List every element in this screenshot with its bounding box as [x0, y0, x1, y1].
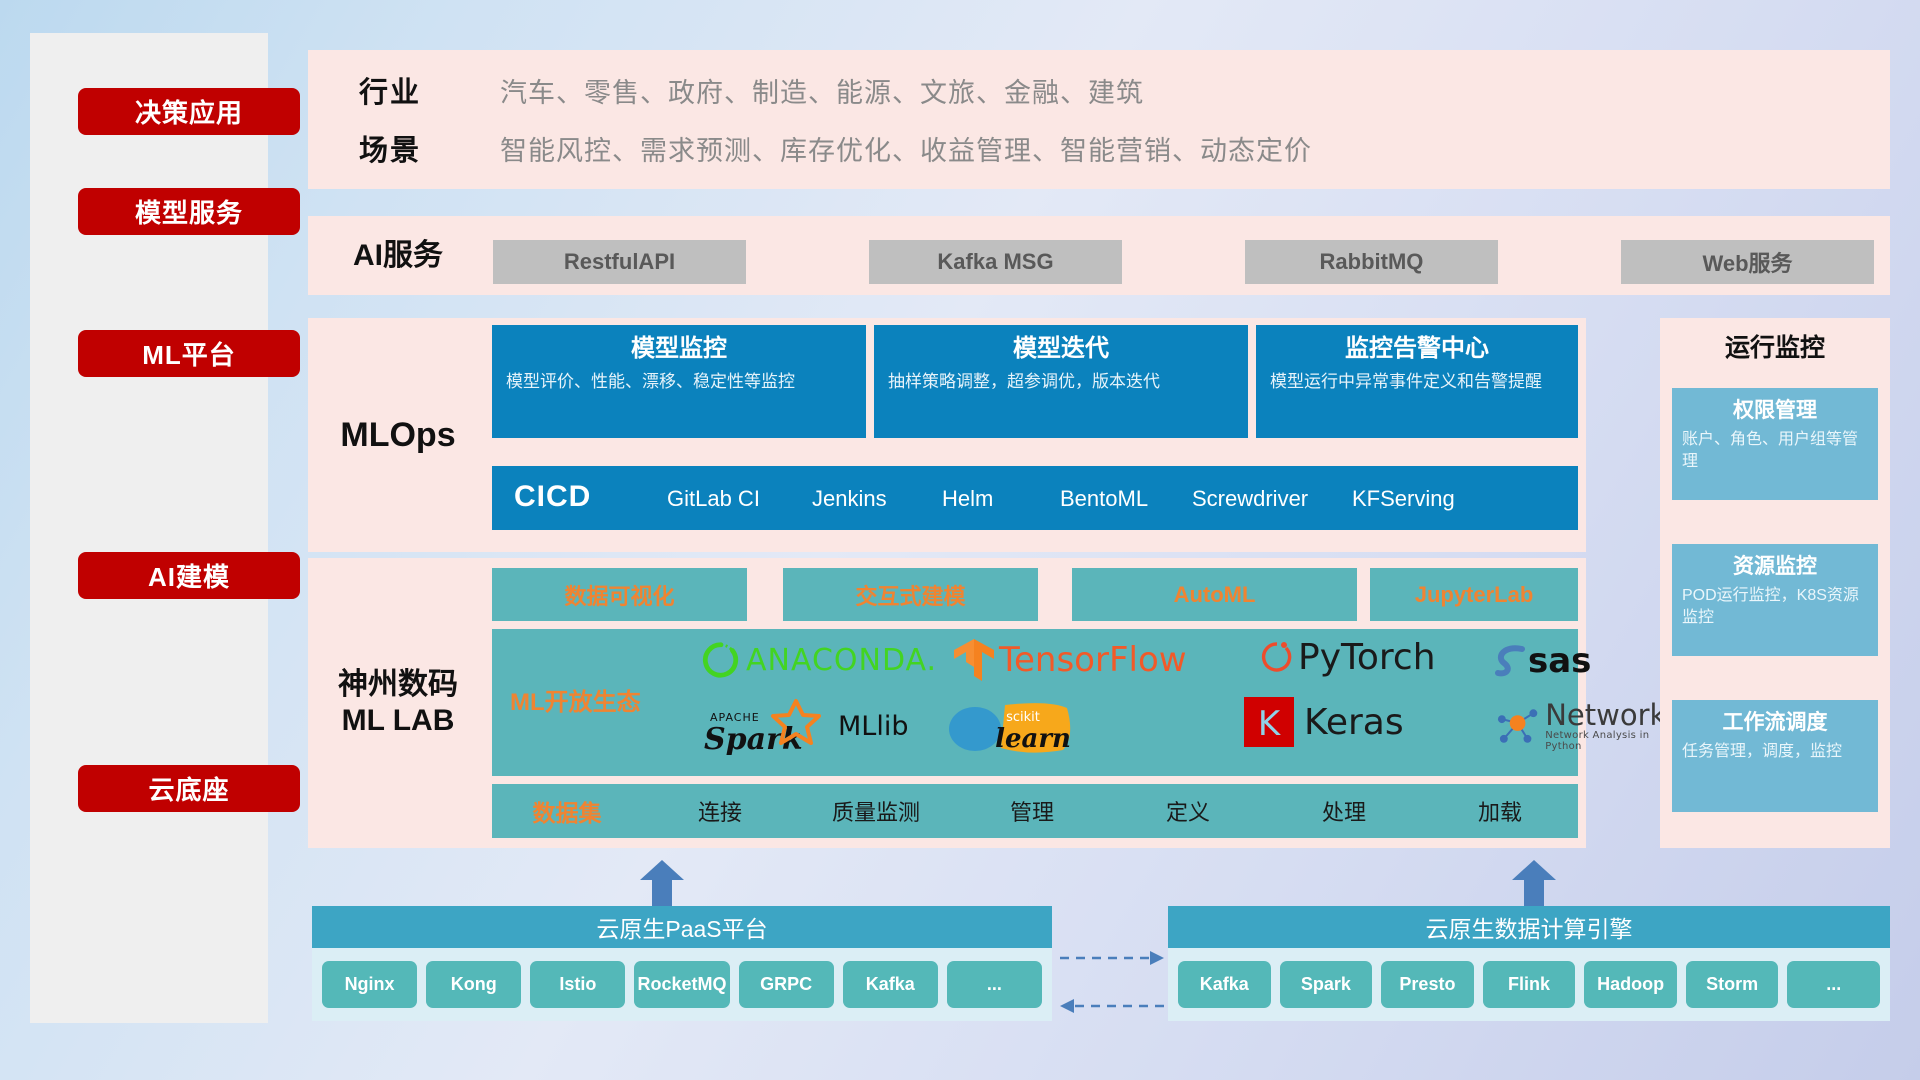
- ml-ecosystem-title: ML开放生态: [510, 682, 641, 717]
- monitoring-card-resource[interactable]: 资源监控 POD运行监控，K8S资源监控: [1672, 544, 1878, 656]
- monitoring-card-desc: POD运行监控，K8S资源监控: [1682, 585, 1868, 630]
- paas-header: 云原生PaaS平台: [312, 906, 1052, 948]
- engine-chip-flink[interactable]: Flink: [1483, 961, 1576, 1008]
- keras-logo: K Keras: [1244, 697, 1404, 747]
- rail-label: 云底座: [148, 770, 229, 807]
- mlops-card-desc: 抽样策略调整，超参调优，版本迭代: [888, 370, 1234, 395]
- service-chip-rabbitmq[interactable]: RabbitMQ: [1245, 240, 1498, 284]
- tool-chip-data-visualization[interactable]: 数据可视化: [492, 568, 747, 621]
- mlops-card-alert-center[interactable]: 监控告警中心 模型运行中异常事件定义和告警提醒: [1256, 325, 1578, 438]
- monitoring-card-title: 工作流调度: [1682, 706, 1868, 736]
- monitoring-title: 运行监控: [1660, 322, 1890, 370]
- engine-chip-kafka[interactable]: Kafka: [1178, 961, 1271, 1008]
- industry-key: 行业: [330, 69, 450, 111]
- tool-chip-interactive-modeling[interactable]: 交互式建模: [783, 568, 1038, 621]
- paas-chip-grpc[interactable]: GRPC: [739, 961, 834, 1008]
- service-chip-kafka-msg[interactable]: Kafka MSG: [869, 240, 1122, 284]
- data-engine-header: 云原生数据计算引擎: [1168, 906, 1890, 948]
- dataset-head: 数据集: [492, 794, 642, 828]
- dataset-item-define[interactable]: 定义: [1110, 795, 1266, 827]
- svg-text:scikit: scikit: [1006, 710, 1040, 725]
- engine-chip-presto[interactable]: Presto: [1381, 961, 1474, 1008]
- monitoring-card-desc: 任务管理，调度，监控: [1682, 741, 1868, 763]
- tensorflow-logo: TensorFlow: [952, 637, 1187, 683]
- sas-mark: [1492, 643, 1532, 679]
- cicd-item-kfserving[interactable]: KFServing: [1352, 485, 1462, 513]
- ml-lab-label-line2: ML LAB: [342, 703, 455, 739]
- networkx-logo: NetworkX Network Analysis in Python: [1494, 701, 1687, 752]
- mllib-wordmark: MLlib: [838, 711, 908, 742]
- data-engine-chip-row: Kafka Spark Presto Flink Hadoop Storm ..…: [1168, 948, 1890, 1021]
- cicd-item-jenkins[interactable]: Jenkins: [812, 485, 922, 513]
- paas-chip-kafka[interactable]: Kafka: [843, 961, 938, 1008]
- layer-rail: 决策应用 模型服务 ML平台 AI建模 云底座: [30, 33, 268, 1023]
- engine-chip-spark[interactable]: Spark: [1280, 961, 1373, 1008]
- cicd-item-gitlab-ci[interactable]: GitLab CI: [667, 485, 777, 513]
- rail-item-model-service[interactable]: 模型服务: [78, 188, 300, 235]
- paas-chip-more[interactable]: ...: [947, 961, 1042, 1008]
- scenario-row: 场景 智能风控、需求预测、库存优化、收益管理、智能营销、动态定价: [330, 120, 1870, 176]
- mlops-card-title: 监控告警中心: [1270, 333, 1564, 364]
- networkx-mark: [1494, 705, 1541, 749]
- tensorflow-wordmark: TensorFlow: [999, 640, 1187, 680]
- cicd-item-helm[interactable]: Helm: [942, 485, 1052, 513]
- mlops-card-title: 模型迭代: [888, 333, 1234, 364]
- monitoring-card-desc: 账户、角色、用户组等管理: [1682, 429, 1868, 474]
- mlops-label: MLOps: [308, 318, 488, 552]
- engine-chip-storm[interactable]: Storm: [1686, 961, 1779, 1008]
- ai-service-label: AI服务: [308, 216, 488, 295]
- svg-text:learn: learn: [995, 724, 1071, 754]
- industry-value: 汽车、零售、政府、制造、能源、文旅、金融、建筑: [500, 71, 1144, 110]
- pytorch-wordmark: PyTorch: [1298, 637, 1436, 678]
- spark-mllib-logo: APACHE Spark MLlib: [704, 697, 908, 755]
- mlops-card-model-iteration[interactable]: 模型迭代 抽样策略调整，超参调优，版本迭代: [874, 325, 1248, 438]
- svg-text:K: K: [1258, 704, 1282, 744]
- anaconda-wordmark: ANACONDA.: [746, 643, 937, 678]
- keras-wordmark: Keras: [1304, 702, 1404, 743]
- engine-chip-more[interactable]: ...: [1787, 961, 1880, 1008]
- monitoring-card-permission[interactable]: 权限管理 账户、角色、用户组等管理: [1672, 388, 1878, 500]
- rail-item-decision-apps[interactable]: 决策应用: [78, 88, 300, 135]
- architecture-diagram: 决策应用 模型服务 ML平台 AI建模 云底座 行业 汽车、零售、政府、制造、能…: [0, 0, 1920, 1080]
- sas-logo: sas: [1492, 641, 1591, 681]
- industry-row: 行业 汽车、零售、政府、制造、能源、文旅、金融、建筑: [330, 62, 1870, 118]
- up-arrow-icon-paas: [640, 860, 684, 906]
- paas-chip-row: Nginx Kong Istio RocketMQ GRPC Kafka ...: [312, 948, 1052, 1021]
- spark-mark: APACHE Spark: [704, 697, 832, 755]
- keras-mark: K: [1244, 697, 1294, 747]
- cicd-item-screwdriver[interactable]: Screwdriver: [1192, 485, 1302, 513]
- paas-chip-kong[interactable]: Kong: [426, 961, 521, 1008]
- mlops-card-title: 模型监控: [506, 333, 852, 364]
- paas-chip-rocketmq[interactable]: RocketMQ: [634, 961, 729, 1008]
- dataset-item-quality[interactable]: 质量监测: [798, 795, 954, 827]
- bidirectional-link-icon: [1058, 940, 1168, 1030]
- dataset-item-manage[interactable]: 管理: [954, 795, 1110, 827]
- service-chip-restfulapi[interactable]: RestfulAPI: [493, 240, 746, 284]
- pytorch-mark: [1260, 638, 1294, 678]
- scikit-mark: scikit learn: [947, 699, 1097, 755]
- rail-label: 决策应用: [135, 93, 243, 130]
- mlops-card-desc: 模型运行中异常事件定义和告警提醒: [1270, 370, 1564, 395]
- rail-item-cloud-base[interactable]: 云底座: [78, 765, 300, 812]
- tensorflow-mark: [952, 637, 996, 683]
- anaconda-logo: ANACONDA.: [702, 641, 937, 679]
- rail-label: ML平台: [142, 335, 236, 372]
- dataset-item-process[interactable]: 处理: [1266, 795, 1422, 827]
- up-arrow-icon-data-engine: [1512, 860, 1556, 906]
- cicd-title: CICD: [514, 480, 591, 514]
- ml-lab-label-line1: 神州数码: [338, 667, 458, 703]
- tool-chip-jupyterlab[interactable]: JupyterLab: [1370, 568, 1578, 621]
- rail-item-ml-platform[interactable]: ML平台: [78, 330, 300, 377]
- rail-label: 模型服务: [135, 193, 243, 230]
- sas-wordmark: sas: [1528, 641, 1591, 681]
- cicd-bar: CICD GitLab CI Jenkins Helm BentoML Scre…: [492, 466, 1578, 530]
- mlops-card-model-monitoring[interactable]: 模型监控 模型评价、性能、漂移、稳定性等监控: [492, 325, 866, 438]
- service-chip-web-service[interactable]: Web服务: [1621, 240, 1874, 284]
- paas-chip-nginx[interactable]: Nginx: [322, 961, 417, 1008]
- ml-lab-label: 神州数码 ML LAB: [308, 558, 488, 848]
- dataset-item-load[interactable]: 加载: [1422, 795, 1578, 827]
- monitoring-card-title: 资源监控: [1682, 550, 1868, 580]
- mlops-card-desc: 模型评价、性能、漂移、稳定性等监控: [506, 370, 852, 395]
- monitoring-card-workflow[interactable]: 工作流调度 任务管理，调度，监控: [1672, 700, 1878, 812]
- monitoring-card-title: 权限管理: [1682, 394, 1868, 424]
- ml-ecosystem-box: ML开放生态 ANACONDA. TensorFlow PyTorch: [492, 629, 1578, 776]
- tool-chip-automl[interactable]: AutoML: [1072, 568, 1357, 621]
- engine-chip-hadoop[interactable]: Hadoop: [1584, 961, 1677, 1008]
- pytorch-logo: PyTorch: [1260, 637, 1436, 678]
- dataset-bar: 数据集 连接 质量监测 管理 定义 处理 加载: [492, 784, 1578, 838]
- rail-label: AI建模: [148, 557, 230, 594]
- rail-item-ai-modeling[interactable]: AI建模: [78, 552, 300, 599]
- paas-chip-istio[interactable]: Istio: [530, 961, 625, 1008]
- scikit-learn-logo: scikit learn: [947, 699, 1097, 755]
- dataset-item-connect[interactable]: 连接: [642, 795, 798, 827]
- anaconda-mark: [702, 641, 740, 679]
- scenario-value: 智能风控、需求预测、库存优化、收益管理、智能营销、动态定价: [500, 129, 1312, 168]
- scenario-key: 场景: [330, 127, 450, 169]
- cicd-item-bentoml[interactable]: BentoML: [1060, 485, 1170, 513]
